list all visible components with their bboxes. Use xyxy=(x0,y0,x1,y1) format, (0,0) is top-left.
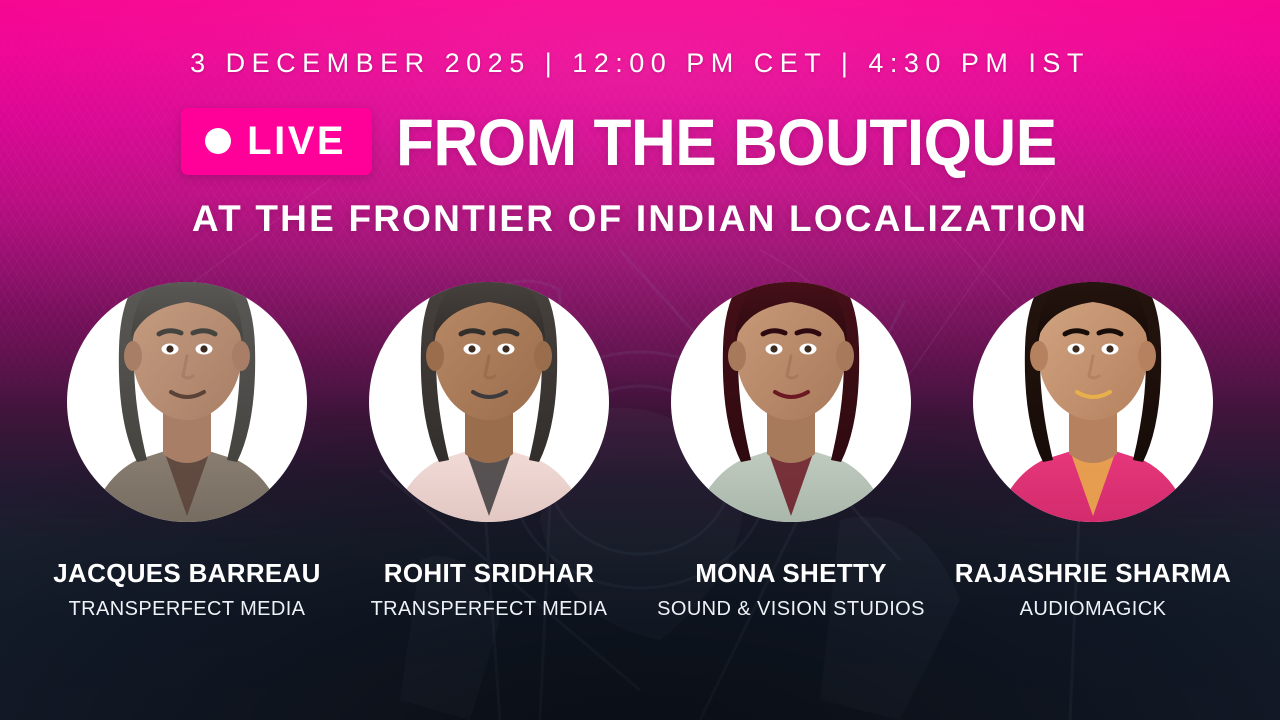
event-datetime: 3 DECEMBER 2025 | 12:00 PM CET | 4:30 PM… xyxy=(0,48,1280,79)
avatar-clip xyxy=(973,282,1213,522)
speaker-company: AUDIOMAGICK xyxy=(953,598,1233,621)
avatar-jacques-barreau xyxy=(67,282,307,522)
avatar-rajashrie-sharma xyxy=(973,282,1213,522)
avatar-clip xyxy=(67,282,307,522)
speaker-name: JACQUES BARREAU xyxy=(47,558,327,589)
speaker-portrait xyxy=(973,282,1213,522)
speaker-name: ROHIT SRIDHAR xyxy=(349,558,629,589)
live-dot-icon xyxy=(205,128,231,154)
speaker-name: RAJASHRIE SHARMA xyxy=(953,558,1233,589)
page-title: FROM THE BOUTIQUE xyxy=(396,109,1057,175)
speaker-name: MONA SHETTY xyxy=(651,558,931,589)
page-subtitle: AT THE FRONTIER OF INDIAN LOCALIZATION xyxy=(0,198,1280,240)
webinar-promo-banner: 3 DECEMBER 2025 | 12:00 PM CET | 4:30 PM… xyxy=(0,0,1280,720)
avatar-rohit-sridhar xyxy=(369,282,609,522)
live-badge: LIVE xyxy=(181,108,372,175)
speaker-list: JACQUES BARREAU TRANSPERFECT MEDIA xyxy=(0,282,1280,682)
speaker-card: ROHIT SRIDHAR TRANSPERFECT MEDIA xyxy=(349,282,629,621)
speaker-card: MONA SHETTY SOUND & VISION STUDIOS xyxy=(651,282,931,621)
speaker-company: TRANSPERFECT MEDIA xyxy=(349,598,629,621)
avatar-clip xyxy=(671,282,911,522)
speaker-portrait xyxy=(369,282,609,522)
speaker-company: SOUND & VISION STUDIOS xyxy=(651,598,931,621)
live-badge-label: LIVE xyxy=(247,121,346,161)
speaker-portrait xyxy=(671,282,911,522)
speaker-company: TRANSPERFECT MEDIA xyxy=(47,598,327,621)
avatar-clip xyxy=(369,282,609,522)
speaker-card: JACQUES BARREAU TRANSPERFECT MEDIA xyxy=(47,282,327,621)
title-row: LIVE FROM THE BOUTIQUE xyxy=(0,108,1280,175)
speaker-card: RAJASHRIE SHARMA AUDIOMAGICK xyxy=(953,282,1233,621)
avatar-mona-shetty xyxy=(671,282,911,522)
speaker-portrait xyxy=(67,282,307,522)
